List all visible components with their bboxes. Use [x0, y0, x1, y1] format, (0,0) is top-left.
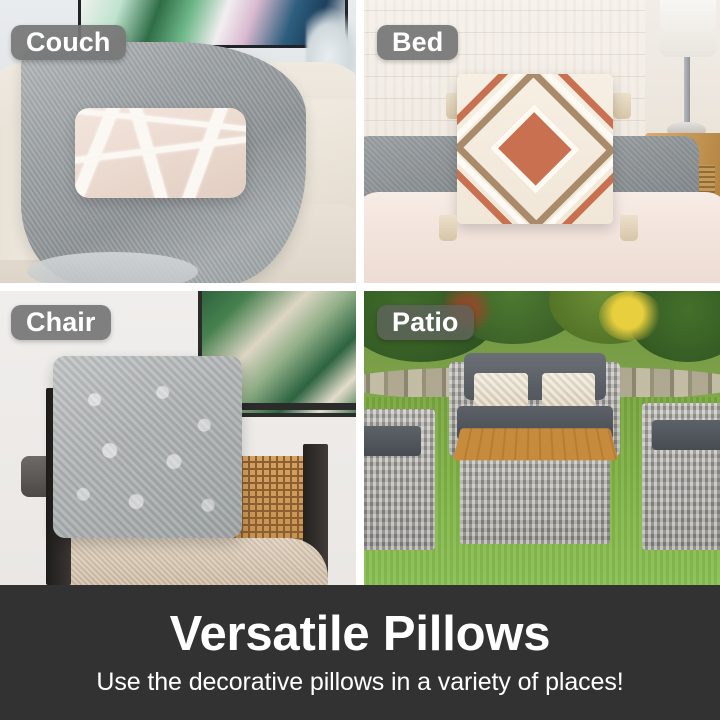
cream-patio-pillow-left — [474, 373, 527, 408]
photo-cell-chair[interactable]: Chair — [0, 291, 356, 585]
product-infographic-poster: Couch — [0, 0, 720, 720]
badge-patio: Patio — [377, 305, 474, 340]
wood-table-top — [452, 429, 617, 461]
gray-chenille-pillow — [53, 356, 242, 538]
yellow-flowers — [599, 291, 663, 341]
chair-right-cushion — [652, 420, 720, 449]
photo-cell-bed[interactable]: Bed — [364, 0, 720, 283]
chair-seat-cushion — [50, 538, 328, 585]
caption-banner: Versatile Pillows Use the decorative pil… — [0, 585, 720, 720]
aztec-diamond-pillow — [457, 74, 614, 224]
blush-tufted-lumbar-pillow — [75, 108, 246, 199]
cream-patio-pillow-right — [542, 373, 595, 408]
pillow-tassel — [439, 215, 457, 240]
lamp-pole — [684, 57, 690, 131]
photo-cell-couch[interactable]: Couch — [0, 0, 356, 283]
badge-bed: Bed — [377, 25, 458, 60]
pillow-tassel — [620, 215, 638, 240]
pillow-tassel — [613, 93, 631, 118]
banner-subhead: Use the decorative pillows in a variety … — [96, 670, 623, 695]
badge-chair: Chair — [11, 305, 111, 340]
chair-left-cushion — [364, 426, 421, 455]
banner-headline: Versatile Pillows — [170, 610, 551, 659]
lamp-shade — [660, 0, 717, 57]
photo-grid: Couch — [0, 0, 720, 585]
photo-cell-patio[interactable]: Patio — [364, 291, 720, 585]
badge-couch: Couch — [11, 25, 126, 60]
